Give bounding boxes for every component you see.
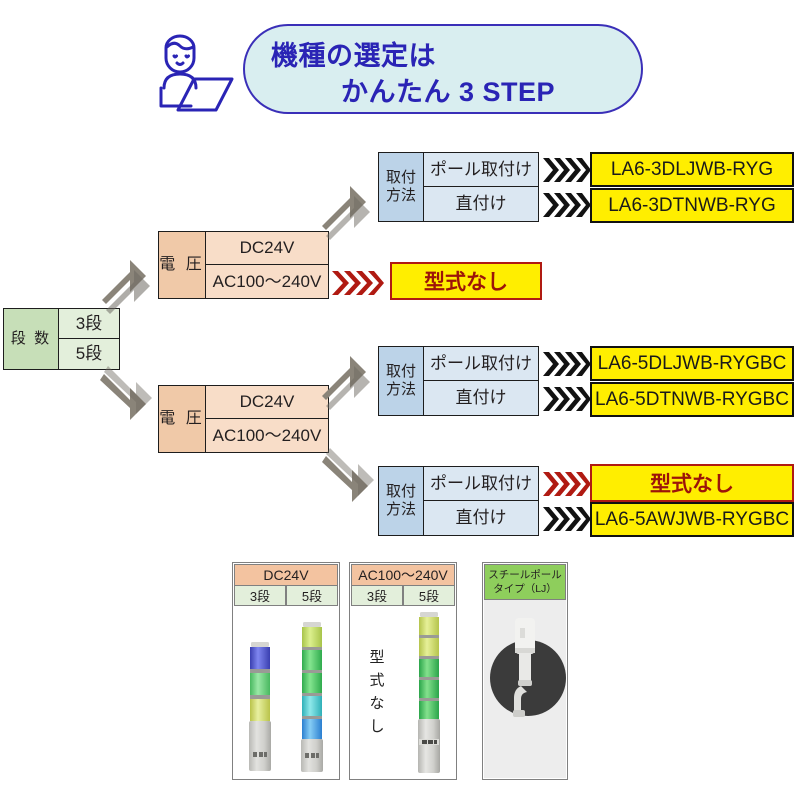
mount-label-3-line2: 方法	[386, 501, 416, 519]
steel-pole-mount-photo	[484, 600, 566, 778]
chevron-arrow-black-1	[543, 156, 591, 184]
model-result-5[interactable]: LA6-5AWJWB-RYGBC	[590, 502, 794, 537]
mount-option-pole-3[interactable]: ポール取付け	[423, 466, 539, 501]
model-result-3[interactable]: LA6-5DLJWB-RYGBC	[590, 346, 794, 381]
mount-option-direct-1[interactable]: 直付け	[423, 186, 539, 222]
tower-light-5-tier-photo	[286, 606, 338, 778]
mount-option-direct-2[interactable]: 直付け	[423, 380, 539, 416]
chevron-arrow-black-3	[543, 350, 591, 378]
mount-label-1: 取付 方法	[378, 152, 424, 222]
voltage-option-ac100-upper[interactable]: AC100〜240V	[205, 264, 329, 299]
bent-arrow-up-right-3	[322, 356, 384, 417]
gallery-sub-dc24v-5: 5段	[286, 585, 338, 606]
gallery-header-pole: スチールポール タイプ（LJ）	[484, 564, 566, 600]
bent-arrow-up-right-1	[100, 258, 166, 321]
model-result-nomodel-2[interactable]: 型式なし	[590, 464, 794, 502]
mount-option-direct-3[interactable]: 直付け	[423, 500, 539, 536]
chevron-arrow-black-2	[543, 191, 591, 219]
voltage-label-lower: 電 圧	[158, 385, 206, 453]
gallery-header-ac100: AC100〜240V	[351, 564, 455, 586]
mount-label-3-line1: 取付	[386, 483, 416, 501]
bent-arrow-up-right-2	[322, 186, 384, 247]
mount-label-1-line2: 方法	[386, 187, 416, 205]
banner-line-1: 機種の選定は	[271, 34, 436, 73]
pole-header-line1: スチールポール	[488, 568, 562, 582]
mount-label-3: 取付 方法	[378, 466, 424, 536]
mount-option-pole-1[interactable]: ポール取付け	[423, 152, 539, 187]
gallery-sub-ac100-5: 5段	[403, 585, 455, 606]
nomodel-char-4: し	[369, 715, 384, 738]
diagram-canvas: 機種の選定は かんたん 3 STEP 段 数 3段 5段 電 圧 DC24V A…	[0, 0, 800, 800]
model-result-1[interactable]: LA6-3DLJWB-RYG	[590, 152, 794, 187]
person-with-laptop-icon	[148, 28, 248, 118]
nomodel-char-1: 型	[369, 646, 384, 669]
tower-light-3-tier-photo	[234, 606, 286, 778]
tower-light-5-tier-ac-photo	[403, 606, 455, 778]
chevron-arrow-red-2	[543, 470, 591, 498]
header-banner: 機種の選定は かんたん 3 STEP	[243, 24, 643, 114]
gallery-header-dc24v: DC24V	[234, 564, 338, 586]
nomodel-char-3: な	[369, 692, 384, 715]
voltage-label-upper: 電 圧	[158, 231, 206, 299]
model-result-2[interactable]: LA6-3DTNWB-RYG	[590, 188, 794, 223]
mount-label-2: 取付 方法	[378, 346, 424, 416]
gallery-sub-dc24v-3: 3段	[234, 585, 286, 606]
banner-line-2: かんたん 3 STEP	[341, 70, 555, 109]
model-result-nomodel-1[interactable]: 型式なし	[390, 262, 542, 300]
model-result-4[interactable]: LA6-5DTNWB-RYGBC	[590, 382, 794, 417]
mount-option-pole-2[interactable]: ポール取付け	[423, 346, 539, 381]
pole-header-line2: タイプ（LJ）	[493, 582, 557, 596]
stages-label: 段 数	[3, 308, 59, 370]
chevron-arrow-red-1	[332, 268, 384, 298]
voltage-option-dc24v-lower[interactable]: DC24V	[205, 385, 329, 419]
gallery-nomodel-label: 型 式 な し	[351, 606, 403, 778]
mount-label-1-line1: 取付	[386, 169, 416, 187]
voltage-option-ac100-lower[interactable]: AC100〜240V	[205, 418, 329, 453]
gallery-sub-ac100-3: 3段	[351, 585, 403, 606]
mount-label-2-line2: 方法	[386, 381, 416, 399]
mount-label-2-line1: 取付	[386, 363, 416, 381]
nomodel-char-2: 式	[369, 669, 384, 692]
chevron-arrow-black-4	[543, 385, 591, 413]
chevron-arrow-black-5	[543, 505, 591, 533]
product-gallery: DC24V 3段 5段	[232, 562, 568, 794]
voltage-option-dc24v-upper[interactable]: DC24V	[205, 231, 329, 265]
